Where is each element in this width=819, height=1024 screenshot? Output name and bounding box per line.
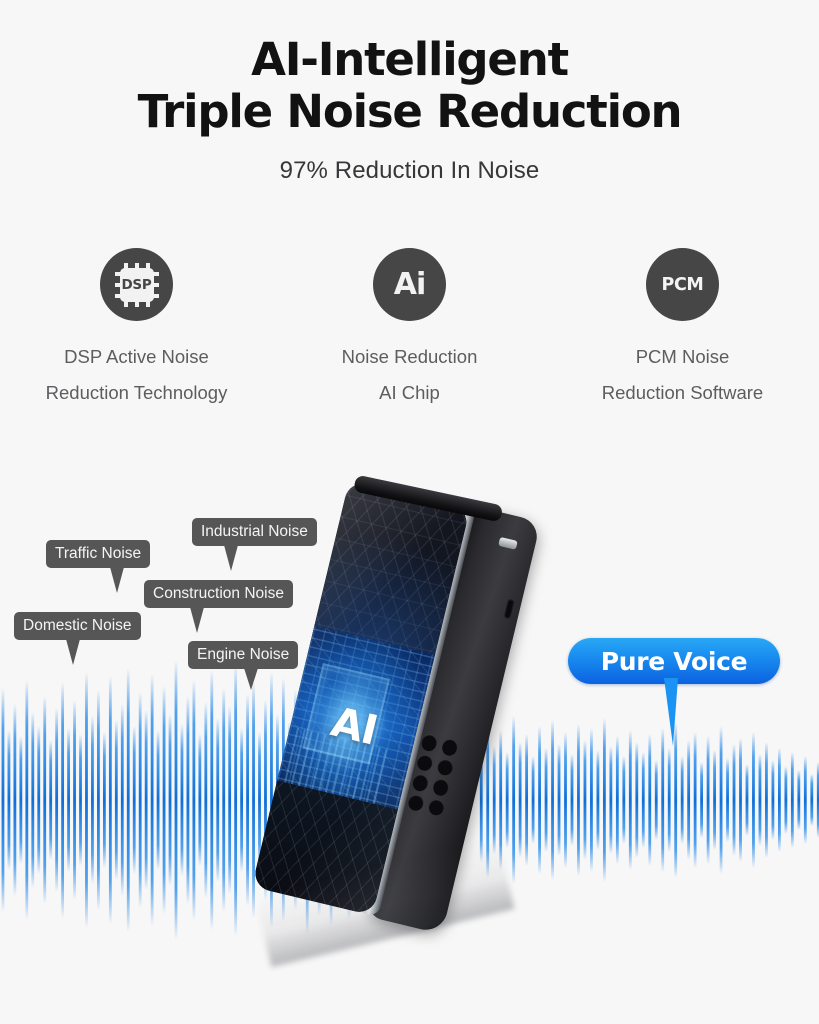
feature-ai-label-line2: AI Chip — [273, 375, 546, 411]
tooltip-tail-icon — [244, 668, 258, 690]
feature-ai-label: Noise Reduction AI Chip — [273, 339, 546, 411]
dsp-icon-text: DSP — [122, 277, 152, 293]
device-screen-text: AI — [327, 697, 382, 754]
feature-pcm-label: PCM Noise Reduction Software — [546, 339, 819, 411]
pure-voice-tail-icon — [664, 678, 678, 746]
tooltip-tail-icon — [224, 545, 238, 571]
pure-voice-label: Pure Voice — [601, 647, 748, 676]
tooltip-tail-icon — [110, 567, 124, 593]
pcm-icon-text: PCM — [662, 275, 704, 295]
noise-label-traffic: Traffic Noise — [46, 540, 150, 568]
feature-pcm: PCM PCM Noise Reduction Software — [546, 248, 819, 411]
noise-label-domestic-text: Domestic Noise — [23, 617, 132, 634]
feature-dsp-label: DSP Active Noise Reduction Technology — [0, 339, 273, 411]
feature-ai: Ai Noise Reduction AI Chip — [273, 248, 546, 411]
noise-label-domestic: Domestic Noise — [14, 612, 141, 640]
feature-ai-label-line1: Noise Reduction — [273, 339, 546, 375]
tooltip-tail-icon — [190, 607, 204, 633]
feature-pcm-label-line1: PCM Noise — [546, 339, 819, 375]
ai-icon-text: Ai — [394, 270, 426, 300]
feature-pcm-label-line2: Reduction Software — [546, 375, 819, 411]
pcm-icon: PCM — [646, 248, 719, 321]
ai-chip-icon: Ai — [373, 248, 446, 321]
feature-dsp-label-line2: Reduction Technology — [0, 375, 273, 411]
feature-dsp-label-line1: DSP Active Noise — [0, 339, 273, 375]
feature-list: DSP DSP Active Noise Reduction Technolog… — [0, 248, 819, 411]
dsp-chip-icon: DSP — [100, 248, 173, 321]
chip-glyph: DSP — [115, 263, 159, 307]
feature-dsp: DSP DSP Active Noise Reduction Technolog… — [0, 248, 273, 411]
noise-label-traffic-text: Traffic Noise — [55, 545, 141, 562]
tooltip-tail-icon — [66, 639, 80, 665]
